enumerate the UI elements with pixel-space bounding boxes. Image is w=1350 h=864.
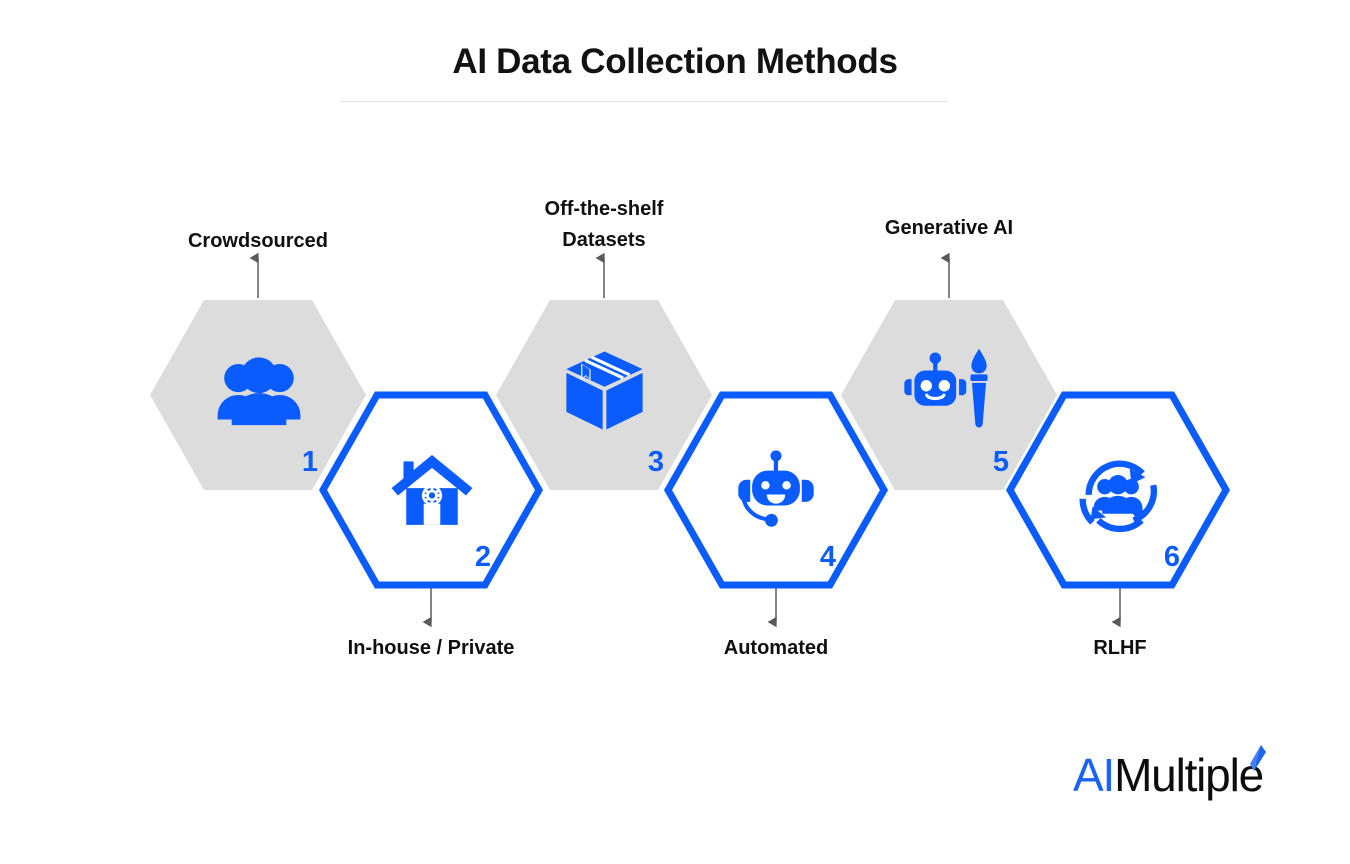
node-label-crowdsourced: Crowdsourced: [128, 226, 388, 257]
node-label-automated: Automated: [646, 633, 906, 664]
logo-slash-mark: [1245, 744, 1267, 774]
hexagon-number-6: 6: [1120, 541, 1180, 574]
hexagon-graphics: [0, 0, 1350, 864]
node-label-rlhf: RLHF: [990, 633, 1250, 664]
node-label-in-house-private: In-house / Private: [301, 633, 561, 664]
hexagon-number-5: 5: [949, 446, 1009, 479]
logo-wordmark: AIMultiple: [1073, 752, 1263, 798]
hexagon-node-6[interactable]: [1010, 395, 1226, 585]
hexagon-number-1: 1: [258, 446, 318, 479]
node-label-generative-ai: Generative AI: [819, 213, 1079, 244]
hexagon-flow-diagram: 1 2 3 4 5 6 Crowdsourced In-house / Priv…: [0, 0, 1350, 864]
hexagon-number-2: 2: [431, 541, 491, 574]
logo-multiple-text: Multiple: [1114, 749, 1263, 801]
hexagon-number-4: 4: [776, 541, 836, 574]
hexagon-number-3: 3: [604, 446, 664, 479]
node-label-off-the-shelf-datasets: Off-the-shelf Datasets: [474, 194, 734, 256]
aimultiple-logo: AIMultiple: [1073, 752, 1263, 804]
logo-ai-text: AI: [1073, 749, 1114, 801]
